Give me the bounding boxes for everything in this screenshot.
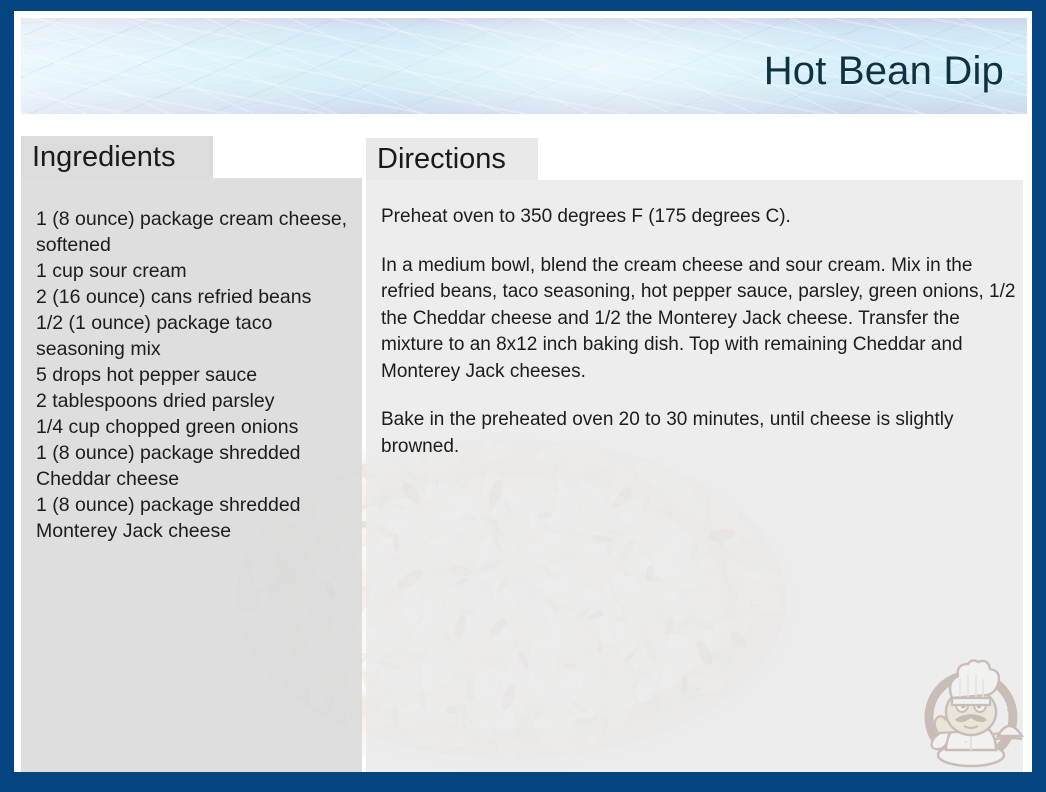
page-title: Hot Bean Dip [764,49,1004,94]
recipe-card: Hot Bean Dip Ingredients 1 (8 ounce) pac… [0,0,1046,792]
ingredients-heading: Ingredients [21,136,213,178]
ingredients-list: 1 (8 ounce) package cream cheese, soften… [36,206,356,544]
directions-text: Preheat oven to 350 degrees F (175 degre… [381,204,1025,460]
chef-mascot-logo [912,654,1030,772]
list-item: 2 (16 ounce) cans refried beans [36,284,356,310]
direction-step: In a medium bowl, blend the cream cheese… [381,253,1025,386]
direction-step: Bake in the preheated oven 20 to 30 minu… [381,407,1025,460]
list-item: 1/4 cup chopped green onions [36,414,356,440]
title-banner: Hot Bean Dip [21,18,1027,114]
list-item: 1 cup sour cream [36,258,356,284]
directions-heading: Directions [366,138,538,180]
direction-step: Preheat oven to 350 degrees F (175 degre… [381,204,1025,231]
list-item: 5 drops hot pepper sauce [36,362,356,388]
list-item: 1 (8 ounce) package cream cheese, soften… [36,206,356,258]
list-item: 1/2 (1 ounce) package taco seasoning mix [36,310,356,362]
list-item: 1 (8 ounce) package shredded Monterey Ja… [36,492,356,544]
card-inner-frame: Hot Bean Dip Ingredients 1 (8 ounce) pac… [14,11,1032,772]
list-item: 1 (8 ounce) package shredded Cheddar che… [36,440,356,492]
list-item: 2 tablespoons dried parsley [36,388,356,414]
